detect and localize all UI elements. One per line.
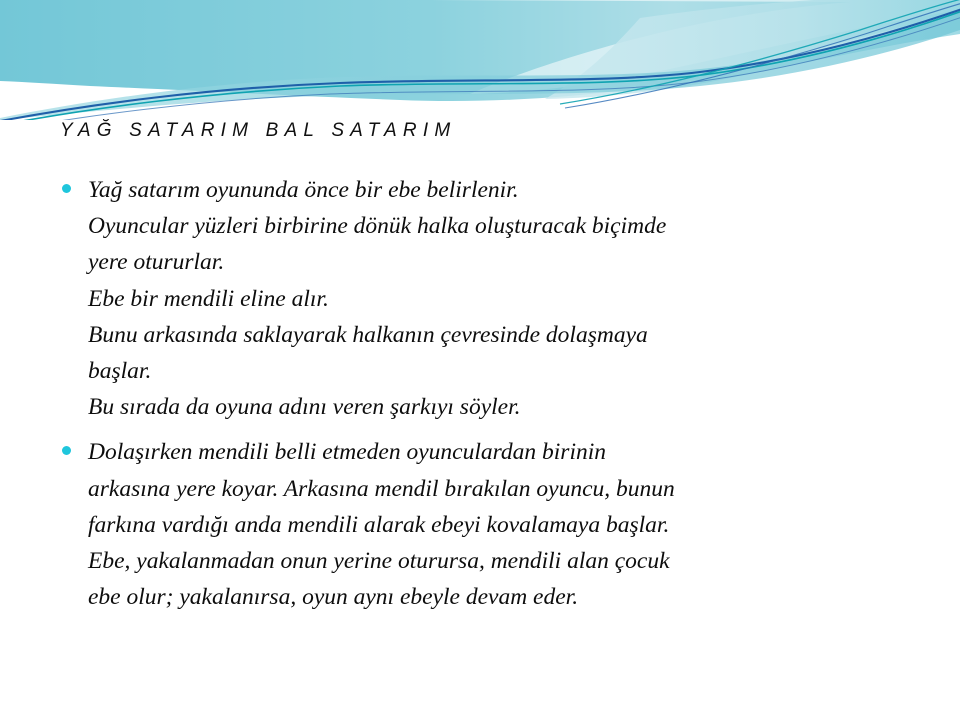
paragraph-line: başlar. bbox=[88, 353, 936, 389]
wave-line-arc-teal bbox=[560, 0, 960, 104]
bullet-point-icon bbox=[62, 446, 71, 455]
paragraph-line: Bunu arkasında saklayarak halkanın çevre… bbox=[88, 317, 936, 353]
paragraph-line: yere otururlar. bbox=[88, 244, 936, 280]
paragraph-line: Bu sırada da oyuna adını veren şarkıyı s… bbox=[88, 389, 936, 425]
paragraph-line: ebe olur; yakalanırsa, oyun aynı ebeyle … bbox=[88, 579, 936, 615]
wave-line-navy bbox=[0, 8, 960, 120]
wave-highlight-white bbox=[430, 0, 960, 94]
bullet-paragraph-2: Dolaşırken mendili belli etmeden oyuncul… bbox=[56, 434, 936, 615]
paragraph-line: Oyuncular yüzleri birbirine dönük halka … bbox=[88, 208, 936, 244]
wave-line-navy-secondary bbox=[0, 16, 960, 120]
bullet-point-icon bbox=[62, 184, 71, 193]
body-text-placeholder: Yağ satarım oyununda önce bir ebe belirl… bbox=[56, 172, 936, 624]
wave-line-teal bbox=[0, 10, 960, 120]
paragraph-line: Yağ satarım oyununda önce bir ebe belirl… bbox=[88, 172, 936, 208]
wave-ribbon-lower bbox=[0, 12, 960, 120]
presentation-slide: YAĞ SATARIM BAL SATARIM Yağ satarım oyun… bbox=[0, 0, 960, 720]
flow-wave-header-graphic bbox=[0, 0, 960, 120]
paragraph-line: Ebe bir mendili eline alır. bbox=[88, 281, 936, 317]
page-title: YAĞ SATARIM BAL SATARIM bbox=[60, 119, 900, 143]
wave-line-arc-navy bbox=[565, 2, 960, 108]
paragraph-line: Ebe, yakalanmadan onun yerine oturursa, … bbox=[88, 543, 936, 579]
paragraph-line: farkına vardığı anda mendili alarak ebey… bbox=[88, 507, 936, 543]
wave-graphic-svg bbox=[0, 0, 960, 120]
paragraph-line: arkasına yere koyar. Arkasına mendil bır… bbox=[88, 471, 936, 507]
paragraph-line: Dolaşırken mendili belli etmeden oyuncul… bbox=[88, 434, 936, 470]
wave-band-pale bbox=[545, 0, 960, 99]
bullet-paragraph-1: Yağ satarım oyununda önce bir ebe belirl… bbox=[56, 172, 936, 425]
wave-band-main bbox=[0, 0, 960, 101]
